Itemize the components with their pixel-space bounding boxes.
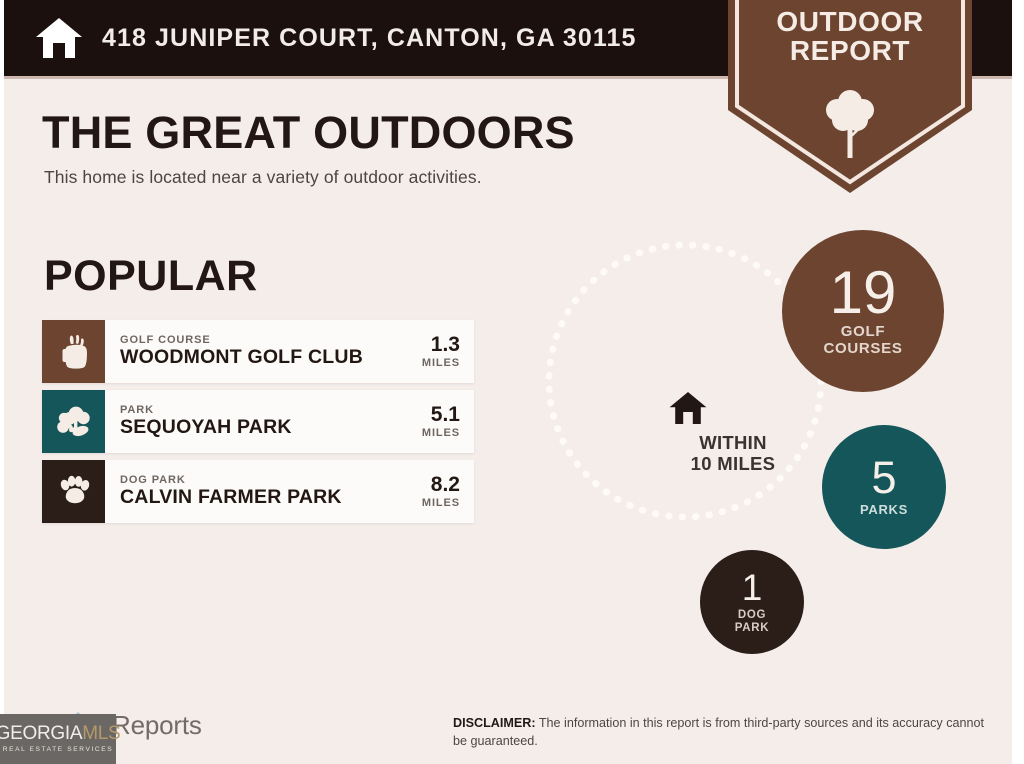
home-icon <box>668 390 798 426</box>
list-item-distance-value: 1.3 <box>431 334 460 356</box>
outdoor-report-page: 418 JUNIPER COURT, CANTON, GA 30115 OUTD… <box>0 0 1024 764</box>
list-item[interactable]: GOLF COURSE WOODMONT GOLF CLUB 1.3 MILES <box>42 320 474 383</box>
list-item-distance-unit: MILES <box>422 357 460 369</box>
home-icon <box>34 16 84 60</box>
park-tree-icon <box>42 390 105 453</box>
within-radius-line1: WITHIN <box>668 432 798 453</box>
watermark-mls: MLS <box>82 723 120 744</box>
georgia-mls-watermark: GEORGIAMLS REAL ESTATE SERVICES <box>0 714 116 764</box>
list-item-text: GOLF COURSE WOODMONT GOLF CLUB <box>105 320 386 383</box>
list-item-text: PARK SEQUOYAH PARK <box>105 390 386 453</box>
stat-label-dogpark-line2: PARK <box>735 622 770 634</box>
list-item-name: SEQUOYAH PARK <box>120 417 386 439</box>
disclaimer: DISCLAIMER: The information in this repo… <box>453 715 993 751</box>
list-item[interactable]: PARK SEQUOYAH PARK 5.1 MILES <box>42 390 474 453</box>
popular-list: GOLF COURSE WOODMONT GOLF CLUB 1.3 MILES <box>42 320 474 523</box>
page-title: THE GREAT OUTDOORS <box>42 110 575 155</box>
list-item-text: DOG PARK CALVIN FARMER PARK <box>105 460 386 523</box>
stat-value-parks: 5 <box>871 457 896 500</box>
property-address: 418 JUNIPER COURT, CANTON, GA 30115 <box>102 24 637 53</box>
golf-bag-icon <box>42 320 105 383</box>
list-item-name: CALVIN FARMER PARK <box>120 487 386 509</box>
stat-value-dog-park: 1 <box>742 570 763 605</box>
tree-icon <box>823 86 877 160</box>
watermark-georgia: GEORGIA <box>0 723 82 744</box>
list-item-distance-value: 8.2 <box>431 474 460 496</box>
stat-circle-parks: 5 PARKS <box>822 425 946 549</box>
popular-section: POPULAR <box>42 255 474 530</box>
within-radius-text: WITHIN 10 MILES <box>668 432 798 475</box>
list-item-distance-unit: MILES <box>422 427 460 439</box>
stat-label-golf-courses: GOLF COURSES <box>823 324 902 358</box>
stats-diagram: WITHIN 10 MILES 19 GOLF COURSES 5 PARKS … <box>524 212 994 662</box>
page-subtitle: This home is located near a variety of o… <box>44 167 575 188</box>
list-item-distance-unit: MILES <box>422 497 460 509</box>
list-item-distance: 5.1 MILES <box>386 390 474 453</box>
stat-value-golf-courses: 19 <box>830 264 897 321</box>
header-content: 418 JUNIPER COURT, CANTON, GA 30115 <box>34 0 637 76</box>
stat-circle-dog-park: 1 DOG PARK <box>700 550 804 654</box>
paw-print-icon <box>42 460 105 523</box>
title-block: THE GREAT OUTDOORS This home is located … <box>42 110 575 188</box>
stat-label-golf-line2: COURSES <box>823 340 902 357</box>
report-canvas: 418 JUNIPER COURT, CANTON, GA 30115 OUTD… <box>4 0 1012 764</box>
dotted-ring-decoration <box>544 240 826 522</box>
disclaimer-label: DISCLAIMER: <box>453 716 536 730</box>
list-item-distance: 1.3 MILES <box>386 320 474 383</box>
list-item-name: WOODMONT GOLF CLUB <box>120 347 386 369</box>
stat-label-golf-line1: GOLF <box>841 323 885 340</box>
stat-label-parks: PARKS <box>860 503 908 518</box>
watermark-subtitle: REAL ESTATE SERVICES <box>3 747 114 754</box>
list-item-distance-value: 5.1 <box>431 404 460 426</box>
within-radius-line2: 10 MILES <box>668 453 798 474</box>
stat-circle-golf-courses: 19 GOLF COURSES <box>782 230 944 392</box>
stat-label-dog-park: DOG PARK <box>735 609 770 635</box>
list-item[interactable]: DOG PARK CALVIN FARMER PARK 8.2 MILES <box>42 460 474 523</box>
watermark-title: GEORGIAMLS <box>0 724 120 743</box>
list-item-distance: 8.2 MILES <box>386 460 474 523</box>
report-logo-text: Reports <box>112 710 202 741</box>
popular-heading: POPULAR <box>44 255 474 298</box>
outdoor-report-badge: OUTDOOR REPORT <box>728 0 972 193</box>
within-radius-label: WITHIN 10 MILES <box>668 390 798 475</box>
stat-label-dogpark-line1: DOG <box>738 609 766 621</box>
